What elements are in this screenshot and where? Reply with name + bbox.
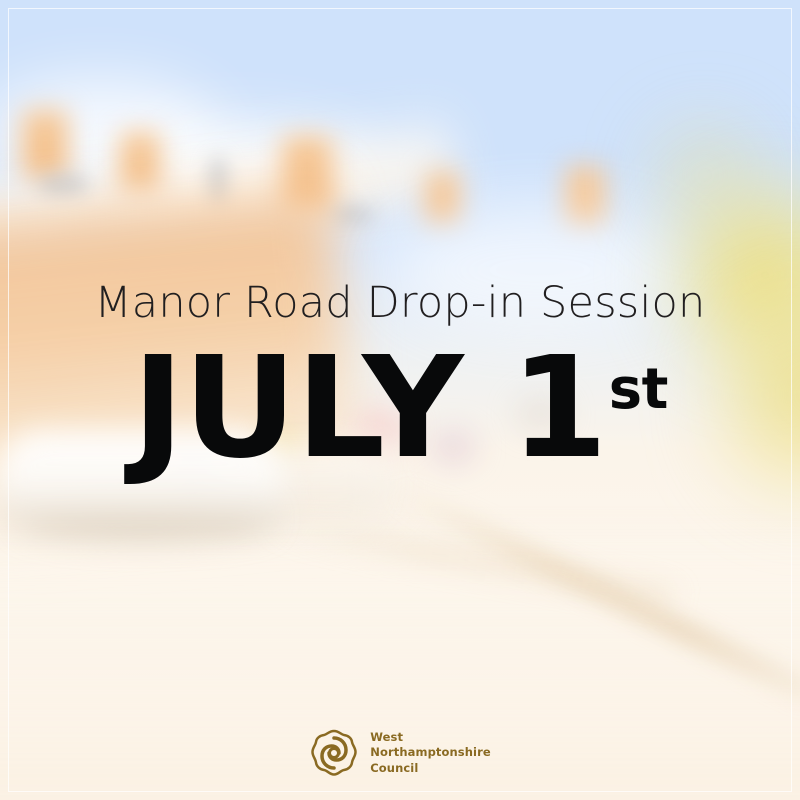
council-logo-line-2: Northamptonshire (370, 745, 491, 760)
event-date-ordinal: st (609, 357, 668, 422)
event-date-month: JULY (132, 327, 510, 490)
council-logo: West Northamptonshire Council (0, 728, 800, 778)
chimney (120, 132, 160, 190)
poster-copy: Manor Road Drop-in Session JULY 1st (0, 282, 800, 483)
council-logo-line-3: Council (370, 761, 491, 776)
council-logo-line-1: West (370, 730, 491, 745)
event-date-day: 1 (510, 327, 606, 490)
rose-emblem-icon (309, 728, 359, 778)
roof-aerial (330, 206, 376, 224)
chimney (22, 110, 68, 178)
page-title: Manor Road Drop-in Session (0, 282, 800, 325)
event-date: JULY 1st (0, 335, 800, 483)
event-poster: Manor Road Drop-in Session JULY 1st West… (0, 0, 800, 800)
council-logo-text: West Northamptonshire Council (370, 730, 491, 776)
chimney (426, 172, 460, 224)
roof-aerial (38, 174, 90, 196)
